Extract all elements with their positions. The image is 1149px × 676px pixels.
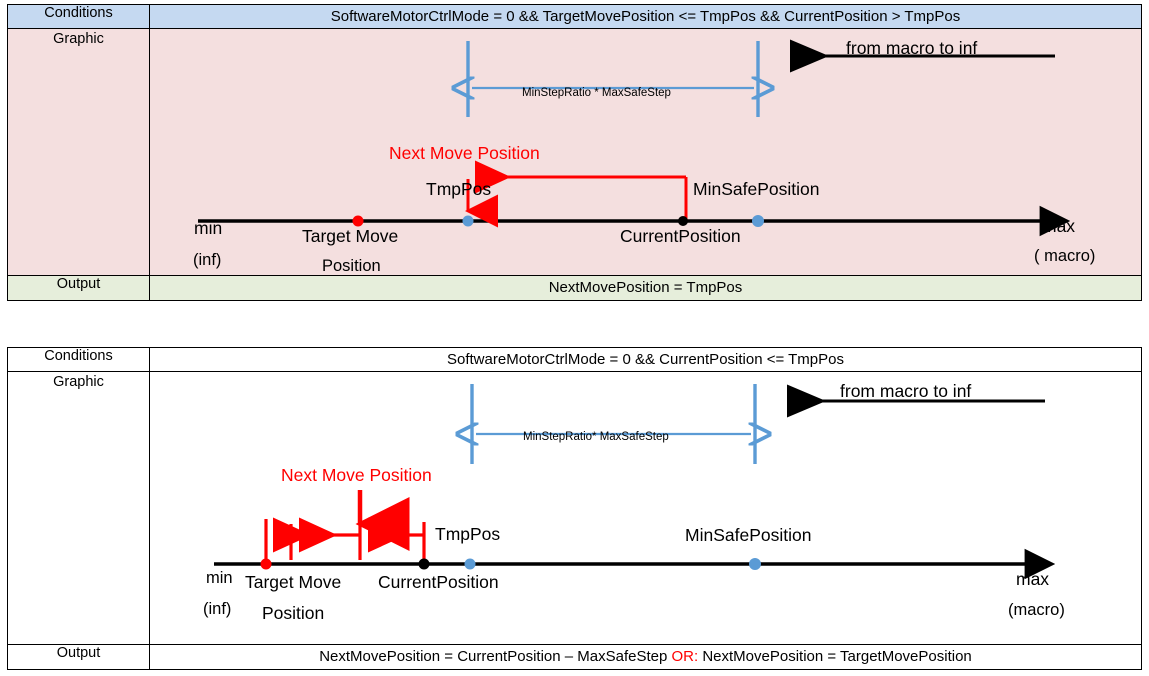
output-part-main: NextMovePosition = CurrentPosition – Max…	[319, 648, 671, 665]
row-label-graphic: Graphic	[8, 29, 150, 276]
output-row-2: Output NextMovePosition = CurrentPositio…	[8, 645, 1142, 670]
max-sub-label-2: (macro)	[1008, 601, 1065, 620]
max-label-2: max	[1016, 569, 1049, 590]
minsafeposition-label-2: MinSafePosition	[685, 525, 811, 546]
next-move-position-label: Next Move Position	[389, 143, 540, 164]
max-label: max	[1042, 216, 1075, 237]
min-sub-label: (inf)	[193, 251, 221, 270]
span-label: MinStepRatio * MaxSafeStep	[522, 87, 671, 99]
min-sub-label-2: (inf)	[203, 600, 231, 619]
conditions-row-2: Conditions SoftwareMotorCtrlMode = 0 && …	[8, 348, 1142, 372]
row-label-conditions-2: Conditions	[8, 348, 150, 372]
graphic-cell-1: MinStepRatio * MaxSafeStep from macro to…	[150, 29, 1142, 276]
row-label-output-2: Output	[8, 645, 150, 670]
row-label-graphic-2: Graphic	[8, 372, 150, 645]
row-label-conditions: Conditions	[8, 5, 150, 29]
tmppos-label: TmpPos	[426, 179, 491, 200]
conditions-cell: SoftwareMotorCtrlMode = 0 && TargetMoveP…	[150, 5, 1142, 29]
diagram-page: Conditions SoftwareMotorCtrlMode = 0 && …	[0, 0, 1149, 676]
target-move-label-2-2: Position	[262, 603, 324, 624]
output-expression: NextMovePosition = TmpPos	[150, 276, 1141, 300]
minsafeposition-label: MinSafePosition	[693, 179, 819, 200]
output-cell: NextMovePosition = TmpPos	[150, 276, 1142, 301]
case-1-table: Conditions SoftwareMotorCtrlMode = 0 && …	[7, 4, 1142, 301]
minsafeposition-dot-2	[749, 558, 761, 570]
graphic-cell-2: MinStepRatio* MaxSafeStep from macro to …	[150, 372, 1142, 645]
current-position-label-2: CurrentPosition	[378, 572, 499, 593]
output-part-tail: NextMovePosition = TargetMovePosition	[698, 648, 972, 665]
target-move-label-2: Position	[322, 257, 381, 276]
max-sub-label: ( macro)	[1034, 247, 1095, 266]
graphic-row-2: Graphic	[8, 372, 1142, 645]
direction-label-2: from macro to inf	[840, 381, 971, 402]
current-position-label: CurrentPosition	[620, 226, 741, 247]
conditions-cell-2: SoftwareMotorCtrlMode = 0 && CurrentPosi…	[150, 348, 1142, 372]
condition-expression: SoftwareMotorCtrlMode = 0 && TargetMoveP…	[150, 5, 1141, 28]
target-move-label-2-1: Target Move	[245, 572, 341, 593]
output-cell-2: NextMovePosition = CurrentPosition – Max…	[150, 645, 1142, 670]
graphic-row: Graphic	[8, 29, 1142, 276]
tmppos-dot	[463, 216, 474, 227]
min-label: min	[194, 218, 222, 239]
min-label-2: min	[206, 569, 233, 588]
condition-expression-2: SoftwareMotorCtrlMode = 0 && CurrentPosi…	[150, 348, 1141, 371]
output-expression-2: NextMovePosition = CurrentPosition – Max…	[150, 645, 1141, 669]
current-position-dot-2	[419, 559, 430, 570]
direction-label: from macro to inf	[846, 38, 977, 59]
tmppos-label-2: TmpPos	[435, 524, 500, 545]
target-move-position-dot	[353, 216, 364, 227]
next-move-position-label-2: Next Move Position	[281, 465, 432, 486]
target-move-position-dot-2	[261, 559, 272, 570]
conditions-row: Conditions SoftwareMotorCtrlMode = 0 && …	[8, 5, 1142, 29]
output-row: Output NextMovePosition = TmpPos	[8, 276, 1142, 301]
span-label-2: MinStepRatio* MaxSafeStep	[523, 431, 669, 443]
row-label-output: Output	[8, 276, 150, 301]
output-part-or: OR:	[671, 648, 698, 665]
tmppos-dot-2	[465, 559, 476, 570]
case-2-table: Conditions SoftwareMotorCtrlMode = 0 && …	[7, 347, 1142, 670]
current-position-dot	[678, 216, 688, 226]
minsafeposition-dot	[752, 215, 764, 227]
target-move-label-1: Target Move	[302, 226, 398, 247]
